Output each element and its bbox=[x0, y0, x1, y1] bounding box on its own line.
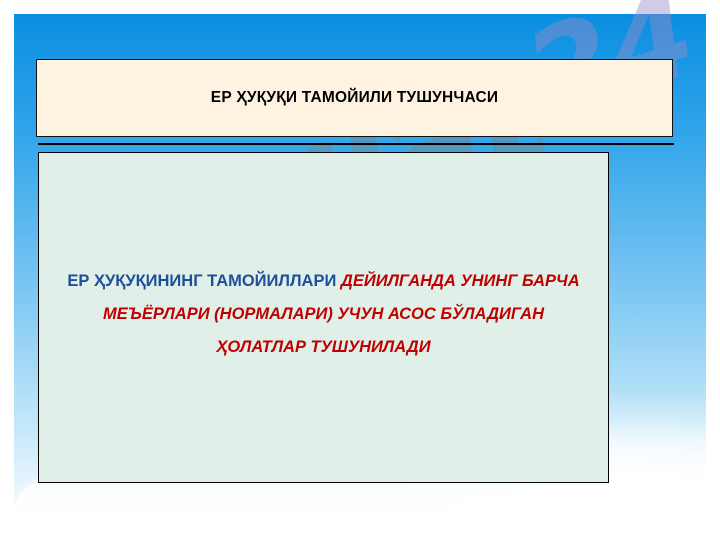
body-paragraph: ЕР ҲУҚУҚИНИНГ ТАМОЙИЛЛАРИ ДЕЙИЛГАНДА УНИ… bbox=[39, 265, 608, 364]
body-box: ЕР ҲУҚУҚИНИНГ ТАМОЙИЛЛАРИ ДЕЙИЛГАНДА УНИ… bbox=[38, 152, 609, 483]
slide-canvas: Hujjat 24 ЕР ҲУҚУҚИ ТАМОЙИЛИ ТУШУНЧАСИ Е… bbox=[0, 0, 720, 540]
body-segment-primary: ЕР ҲУҚУҚИНИНГ ТАМОЙИЛЛАРИ bbox=[67, 272, 341, 290]
title-box: ЕР ҲУҚУҚИ ТАМОЙИЛИ ТУШУНЧАСИ bbox=[36, 59, 673, 137]
slide-title: ЕР ҲУҚУҚИ ТАМОЙИЛИ ТУШУНЧАСИ bbox=[201, 89, 508, 107]
title-underline-rule bbox=[38, 143, 674, 145]
